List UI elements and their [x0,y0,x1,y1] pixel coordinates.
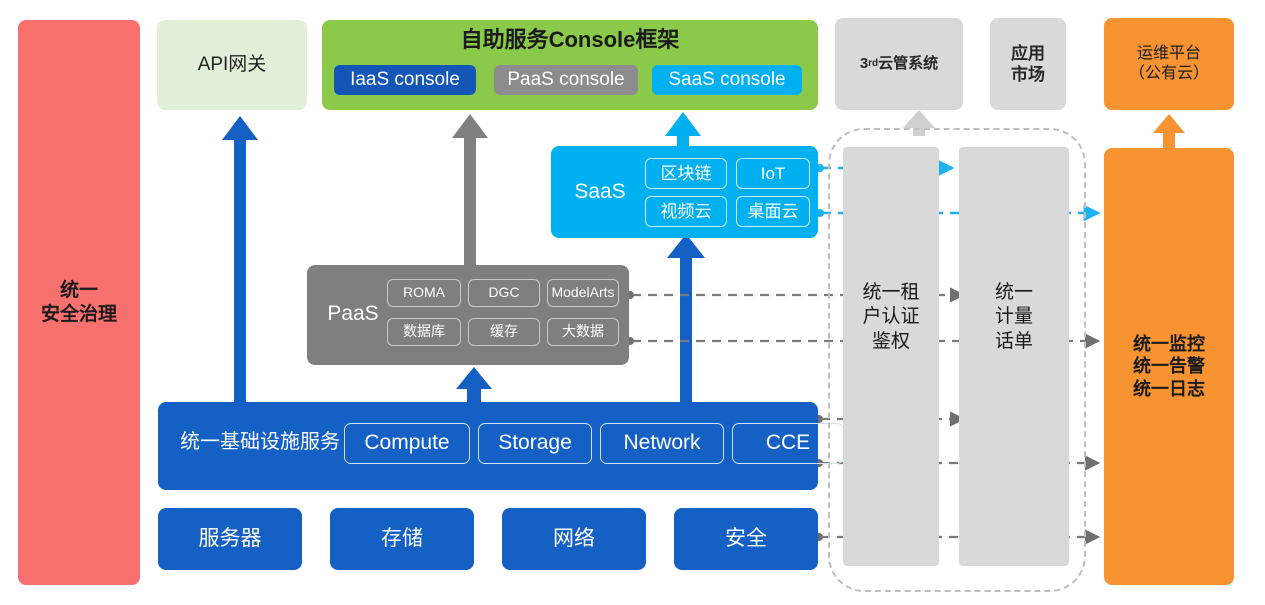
arrow-ops-up [1153,114,1185,148]
arrow-saas-to-console [665,112,701,146]
third-cloud-label: 云管系统 [878,55,938,74]
unified-metering-column[interactable] [959,147,1069,566]
bottom-box-server[interactable]: 服务器 [158,508,302,570]
paas-chip-modelarts[interactable]: ModelArts [547,279,619,307]
arrow-infra-to-api [222,116,258,402]
third-party-cloud-mgmt-box[interactable]: 3rd云管系统 [835,18,963,110]
paas-chip-database[interactable]: 数据库 [387,318,461,346]
saas-block[interactable]: SaaS 区块链 IoT 视频云 桌面云 [551,146,818,238]
bottom-box-network[interactable]: 网络 [502,508,646,570]
third-cloud-prefix: 3 [860,55,868,74]
saas-block-label: SaaS [563,179,637,205]
paas-chip-dgc[interactable]: DGC [468,279,540,307]
saas-console-chip[interactable]: SaaS console [652,65,802,95]
bottom-box-security[interactable]: 安全 [674,508,818,570]
security-governance-pillar[interactable]: 统一 安全治理 [18,20,140,585]
saas-chip-iot[interactable]: IoT [736,158,810,189]
arrow-paas-to-console [452,114,488,265]
infra-chip-network[interactable]: Network [600,423,724,464]
infra-bar-label: 统一基础设施服务 [172,430,348,455]
api-gateway-box[interactable]: API网关 [157,20,307,110]
iaas-console-chip[interactable]: IaaS console [334,65,476,95]
unified-monitoring-pillar[interactable]: 统一监控 统一告警 统一日志 [1104,148,1234,585]
infra-chip-compute[interactable]: Compute [344,423,470,464]
unified-metering-label: 统一 计量 话单 [959,281,1069,354]
saas-chip-video-cloud[interactable]: 视频云 [645,196,727,227]
paas-console-chip[interactable]: PaaS console [494,65,638,95]
paas-chip-roma[interactable]: ROMA [387,279,461,307]
third-cloud-superscript: rd [868,58,878,71]
paas-block-label: PaaS [317,301,389,327]
unified-tenant-auth-label: 统一租 户认证 鉴权 [843,281,939,354]
ops-platform-box[interactable]: 运维平台 （公有云） [1104,18,1234,110]
unified-tenant-auth-column[interactable] [843,147,939,566]
self-service-console-frame[interactable]: 自助服务Console框架 IaaS console PaaS console … [322,20,818,110]
arrow-infra-to-paas [456,367,492,402]
bottom-box-storage[interactable]: 存储 [330,508,474,570]
arrow-infra-to-saas [667,234,705,402]
paas-block[interactable]: PaaS ROMA DGC ModelArts 数据库 缓存 大数据 [307,265,629,365]
console-frame-title: 自助服务Console框架 [322,26,818,54]
paas-chip-bigdata[interactable]: 大数据 [547,318,619,346]
paas-chip-cache[interactable]: 缓存 [468,318,540,346]
saas-chip-desktop-cloud[interactable]: 桌面云 [736,196,810,227]
unified-infrastructure-bar[interactable]: 统一基础设施服务 Compute Storage Network CCE [158,402,818,490]
app-market-box[interactable]: 应用 市场 [990,18,1066,110]
infra-chip-storage[interactable]: Storage [478,423,592,464]
saas-chip-blockchain[interactable]: 区块链 [645,158,727,189]
